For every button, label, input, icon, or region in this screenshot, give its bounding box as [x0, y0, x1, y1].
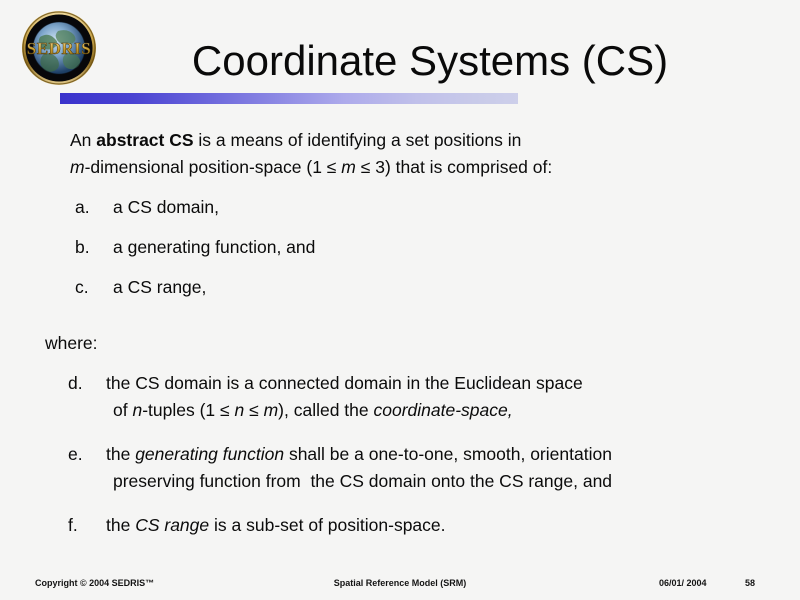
intro-bold-abstract-cs: abstract CS	[96, 130, 193, 150]
list-item: a. a CS domain,	[75, 194, 675, 221]
where-label: where:	[45, 330, 98, 357]
title-gradient-rule	[60, 93, 518, 104]
e-text-1: the	[106, 444, 135, 464]
page-title: Coordinate Systems (CS)	[110, 36, 750, 86]
list-marker-d: d.	[68, 370, 106, 397]
d-le-2: ≤	[249, 400, 259, 420]
list-marker-f: f.	[68, 512, 106, 539]
d-italic-n2: n	[235, 400, 245, 420]
sedris-globe-icon: SEDRIS	[20, 9, 98, 87]
d-line2: of n-tuples (1 ≤ n ≤ m), called the coor…	[106, 397, 768, 424]
list-text-b: a generating function, and	[113, 234, 675, 261]
list-item: b. a generating function, and	[75, 234, 675, 261]
list-item: f. the CS range is a sub-set of position…	[68, 512, 768, 539]
slide-canvas: SEDRIS Coordinate Systems (CS) An abstra…	[0, 0, 800, 600]
d-text-2: -tuples (1	[142, 400, 220, 420]
intro-italic-m: m	[70, 157, 85, 177]
intro-text-1: An	[70, 130, 96, 150]
list-marker-b: b.	[75, 234, 113, 261]
e-line1: the generating function shall be a one-t…	[106, 444, 612, 464]
svg-text:SEDRIS: SEDRIS	[27, 39, 91, 58]
intro-text-5: 3) that is comprised of:	[370, 157, 552, 177]
list-item: c. a CS range,	[75, 274, 675, 301]
list-marker-a: a.	[75, 194, 113, 221]
d-line1: the CS domain is a connected domain in t…	[106, 373, 583, 393]
f-text-2: is a sub-set of position-space.	[209, 515, 445, 535]
list-marker-e: e.	[68, 441, 106, 468]
list-text-d: the CS domain is a connected domain in t…	[106, 370, 768, 424]
d-italic-n: n	[132, 400, 142, 420]
list-text-e: the generating function shall be a one-t…	[106, 441, 768, 495]
list-abc: a. a CS domain, b. a generating function…	[75, 194, 675, 301]
intro-text-2: is a means of identifying a set position…	[194, 130, 522, 150]
intro-le-1: ≤	[327, 157, 337, 177]
f-text-1: the	[106, 515, 135, 535]
d-le-1: ≤	[220, 400, 230, 420]
d-text-1: of	[113, 400, 132, 420]
list-text-f: the CS range is a sub-set of position-sp…	[106, 512, 768, 539]
d-text-3: ), called the	[278, 400, 373, 420]
sedris-logo: SEDRIS	[20, 9, 98, 87]
intro-italic-m2: m	[341, 157, 356, 177]
footer-date: 06/01/ 2004	[659, 578, 707, 588]
list-text-c: a CS range,	[113, 274, 675, 301]
intro-le-2: ≤	[361, 157, 371, 177]
list-def: d. the CS domain is a connected domain i…	[68, 370, 768, 556]
f-italic-cs-range: CS range	[135, 515, 209, 535]
d-italic-coordinate-space: coordinate-space,	[374, 400, 513, 420]
list-item: e. the generating function shall be a on…	[68, 441, 768, 495]
e-text-2: shall be a one-to-one, smooth, orientati…	[284, 444, 612, 464]
list-marker-c: c.	[75, 274, 113, 301]
intro-text-3: -dimensional position-space (1	[85, 157, 327, 177]
e-italic-generating-function: generating function	[135, 444, 284, 464]
d-italic-m: m	[264, 400, 279, 420]
intro-paragraph: An abstract CS is a means of identifying…	[70, 127, 710, 181]
list-item: d. the CS domain is a connected domain i…	[68, 370, 768, 424]
e-line2: preserving function from the CS domain o…	[106, 468, 768, 495]
footer-page-number: 58	[745, 578, 755, 588]
list-text-a: a CS domain,	[113, 194, 675, 221]
